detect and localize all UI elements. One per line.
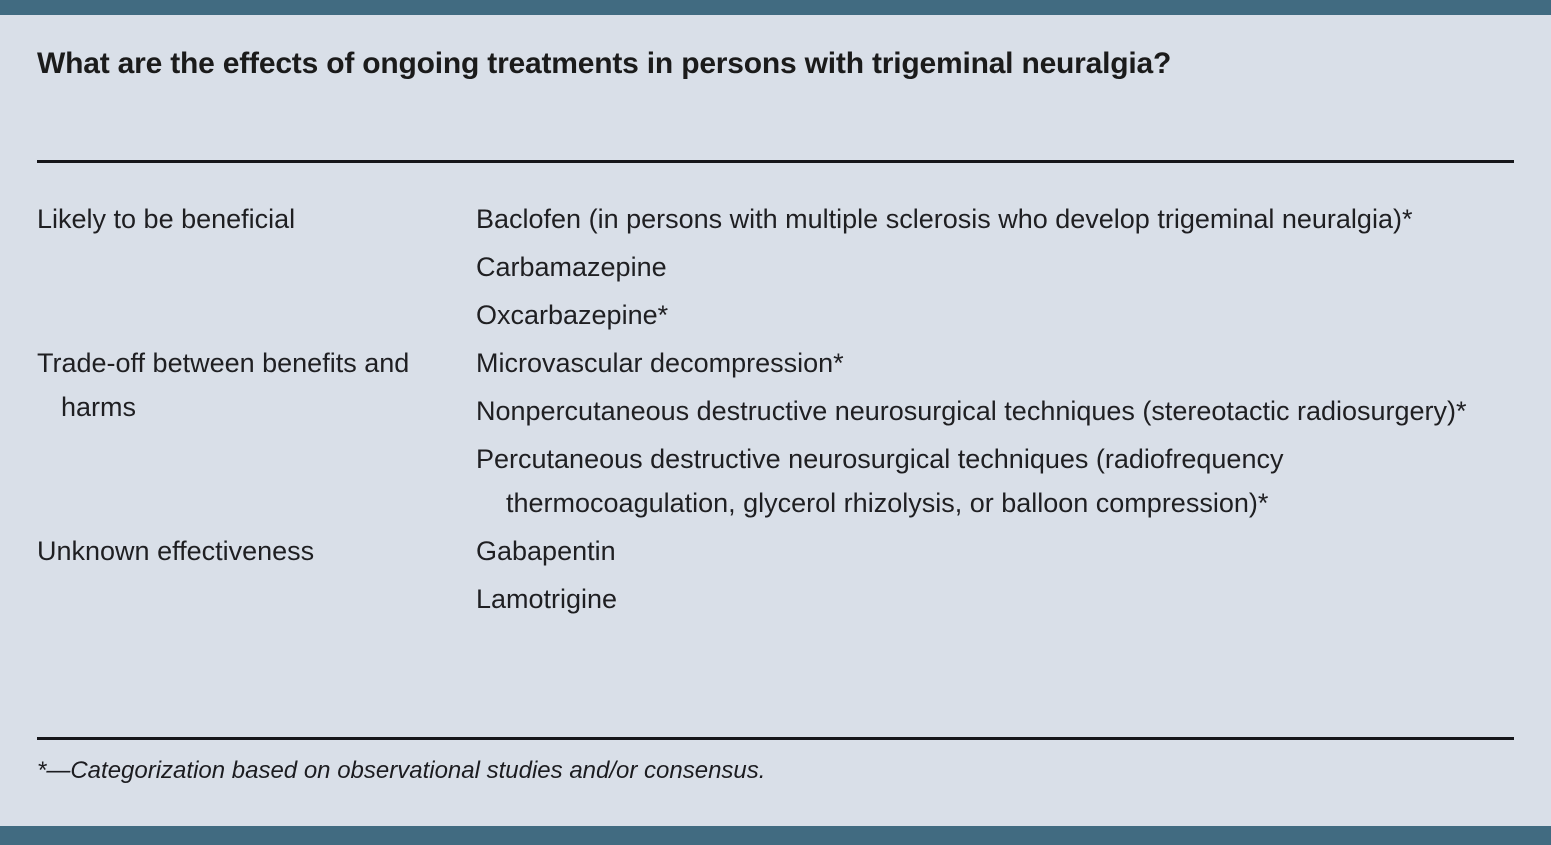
list-item: Percutaneous destructive neurosurgical t… <box>476 437 1514 529</box>
page-title: What are the effects of ongoing treatmen… <box>37 45 1409 83</box>
evidence-summary-table: What are the effects of ongoing treatmen… <box>0 0 1551 845</box>
list-item: Carbamazepine <box>476 245 1514 293</box>
header-divider <box>37 160 1514 163</box>
table-row: Likely to be beneficial Baclofen (in per… <box>37 197 1514 341</box>
footer-divider <box>37 737 1514 740</box>
table-inner: What are the effects of ongoing treatmen… <box>37 15 1514 826</box>
table-row: Unknown effectiveness Gabapentin Lamotri… <box>37 529 1514 625</box>
top-accent-bar <box>0 0 1551 15</box>
list-item: Lamotrigine <box>476 577 1514 625</box>
table-row: Trade-off between benefits and harms Mic… <box>37 341 1514 529</box>
category-label: Likely to be beneficial <box>37 197 481 241</box>
list-item: Oxcarbazepine* <box>476 293 1514 341</box>
footnote: *—Categorization based on observational … <box>37 755 1514 787</box>
list-item: Baclofen (in persons with multiple scler… <box>476 197 1514 245</box>
table-body: Likely to be beneficial Baclofen (in per… <box>37 197 1514 625</box>
bottom-accent-bar <box>0 826 1551 845</box>
list-item: Microvascular decompression* <box>476 341 1514 389</box>
category-label: Unknown effectiveness <box>37 529 481 573</box>
list-item: Nonpercutaneous destructive neurosurgica… <box>476 389 1514 437</box>
category-label: Trade-off between benefits and harms <box>37 341 481 429</box>
list-item: Gabapentin <box>476 529 1514 577</box>
